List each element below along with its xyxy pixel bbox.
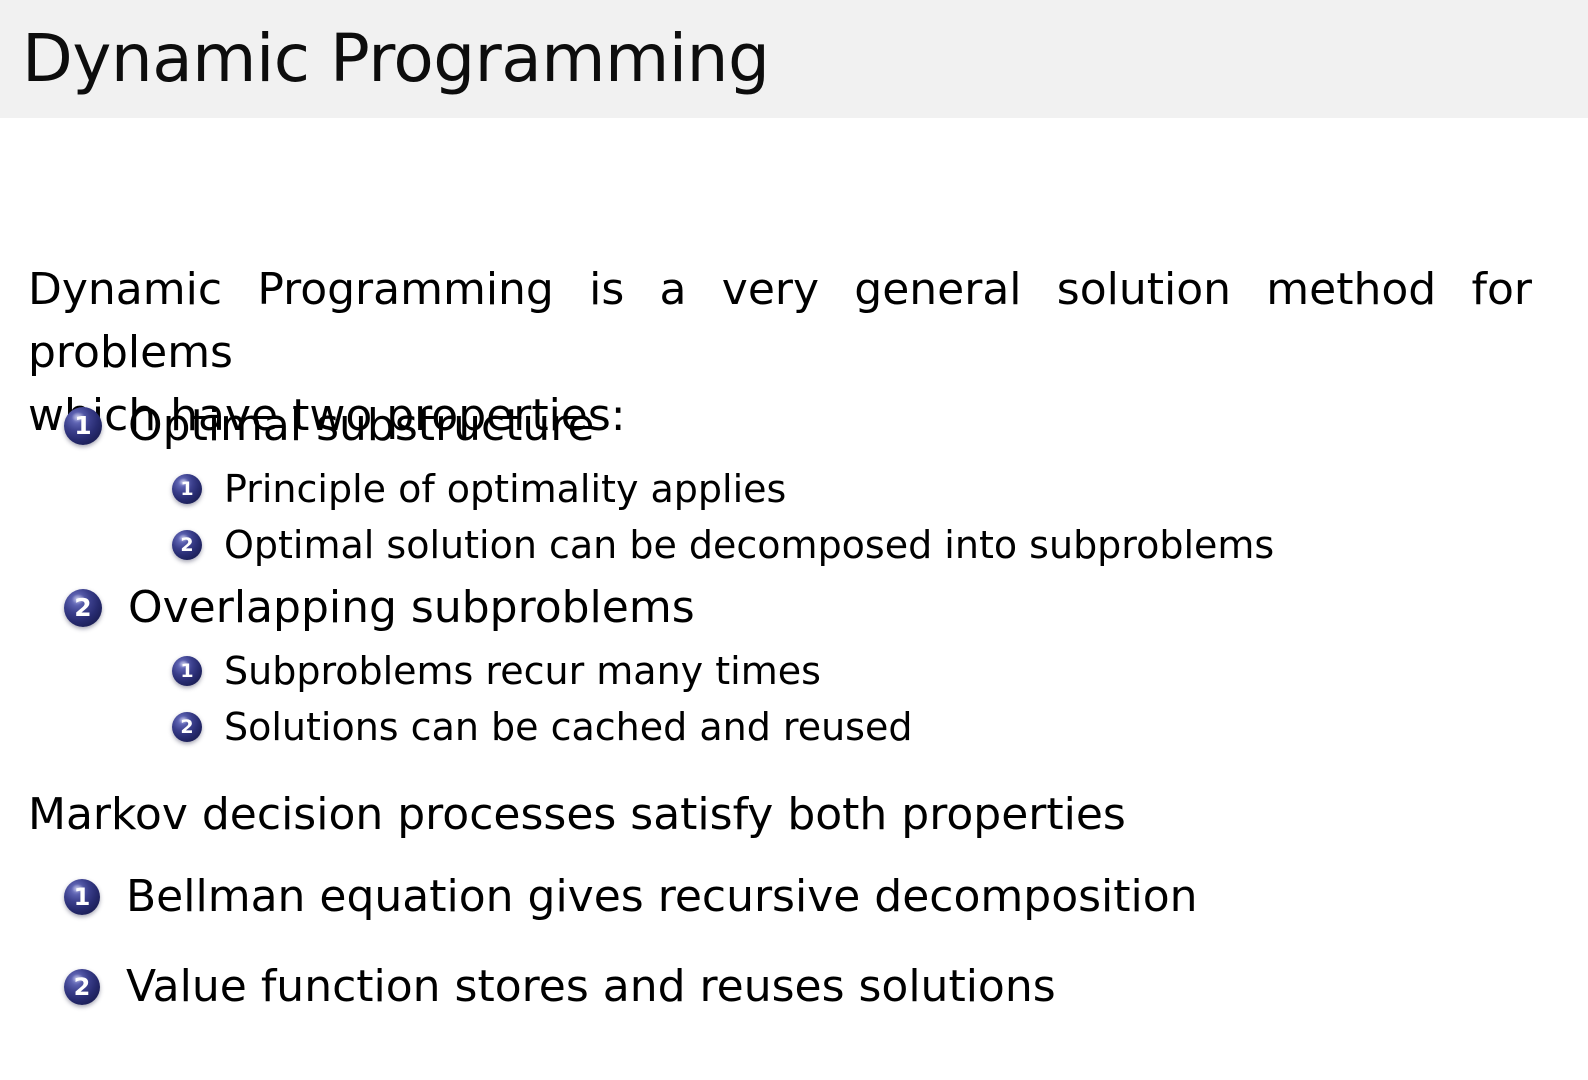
bullet-number-sphere-icon: 2 [172,530,202,560]
bullet-number-label: 2 [172,712,202,742]
list-item-label: Value function stores and reuses solutio… [126,953,1056,1021]
slide-content: Dynamic Programming is a very general so… [0,118,1588,1080]
properties-list: 1 Optimal substructure 1 Principle of op… [0,391,1588,755]
bullet-number-sphere-icon: 2 [64,969,100,1005]
list-item-label: Optimal solution can be decomposed into … [224,517,1274,573]
list-item[interactable]: 1 Bellman equation gives recursive decom… [0,863,1588,931]
list-item-label: Subproblems recur many times [224,643,821,699]
list-item-label: Optimal substructure [128,391,595,461]
bullet-number-sphere-icon: 1 [172,474,202,504]
bullet-number-sphere-icon: 1 [64,407,102,445]
bullet-number-label: 1 [172,656,202,686]
bullet-number-sphere-icon: 1 [64,879,100,915]
slide-title-bar: Dynamic Programming [0,0,1588,118]
bullet-number-sphere-icon: 2 [64,589,102,627]
page-title: Dynamic Programming [22,13,769,105]
mdp-paragraph: Markov decision processes satisfy both p… [28,783,1532,846]
list-item-label: Principle of optimality applies [224,461,786,517]
bullet-number-label: 2 [64,969,100,1005]
mdp-points-list: 1 Bellman equation gives recursive decom… [0,863,1588,1043]
list-item[interactable]: 2 Optimal solution can be decomposed int… [0,517,1588,573]
list-item-label: Overlapping subproblems [128,573,695,643]
bullet-number-label: 1 [172,474,202,504]
list-item-label: Solutions can be cached and reused [224,699,912,755]
list-item[interactable]: 1 Subproblems recur many times [0,643,1588,699]
bullet-number-label: 2 [64,589,102,627]
bullet-number-label: 1 [64,407,102,445]
list-item-label: Bellman equation gives recursive decompo… [126,863,1198,931]
list-item[interactable]: 2 Overlapping subproblems [0,573,1588,643]
list-item[interactable]: 1 Principle of optimality applies [0,461,1588,517]
list-item[interactable]: 2 Value function stores and reuses solut… [0,953,1588,1021]
bullet-number-label: 2 [172,530,202,560]
intro-paragraph-line-1: Dynamic Programming is a very general so… [28,264,1532,378]
properties-sublist-2: 1 Subproblems recur many times 2 Solutio… [0,643,1588,755]
list-item[interactable]: 1 Optimal substructure [0,391,1588,461]
list-item[interactable]: 2 Solutions can be cached and reused [0,699,1588,755]
bullet-number-sphere-icon: 2 [172,712,202,742]
bullet-number-label: 1 [64,879,100,915]
bullet-number-sphere-icon: 1 [172,656,202,686]
properties-sublist-1: 1 Principle of optimality applies 2 Opti… [0,461,1588,573]
